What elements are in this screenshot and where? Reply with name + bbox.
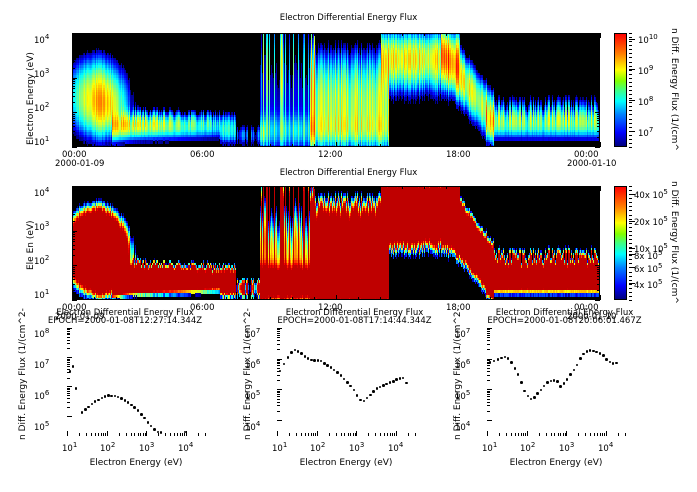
axis-minor-tick <box>487 394 490 395</box>
data-point <box>333 369 336 372</box>
axis-minor-tick <box>292 186 293 189</box>
data-point <box>140 413 143 416</box>
data-point <box>533 396 536 399</box>
axis-minor-tick <box>277 360 280 361</box>
data-point <box>589 349 592 352</box>
axis-minor-tick <box>170 433 171 436</box>
axis-minor-tick <box>597 241 600 242</box>
axis-minor-tick <box>204 186 205 189</box>
colorbar-minor-tick <box>629 49 632 50</box>
axis-minor-tick <box>67 337 70 338</box>
axis-minor-tick <box>487 329 490 330</box>
mid-ytick-1: 101 <box>34 291 49 301</box>
data-point <box>510 361 513 364</box>
axis-minor-tick <box>487 333 490 334</box>
data-point <box>147 421 150 424</box>
axis-tick <box>595 231 600 232</box>
axis-minor-tick <box>72 88 75 89</box>
axis-minor-tick <box>67 388 70 389</box>
data-point <box>87 406 90 409</box>
axis-minor-tick <box>384 433 385 436</box>
axis-minor-tick <box>314 144 315 147</box>
axis-minor-tick <box>72 200 75 201</box>
axis-minor-tick <box>226 144 227 147</box>
data-point <box>530 398 533 401</box>
data-point <box>359 399 362 402</box>
colorbar-minor-tick <box>629 135 632 136</box>
colorbar-minor-tick <box>629 251 632 252</box>
data-point <box>546 381 549 384</box>
axis-minor-tick <box>67 402 70 403</box>
data-point <box>569 373 572 376</box>
axis-minor-tick <box>597 92 600 93</box>
axis-tick <box>595 147 600 148</box>
spectrum-3-plot[interactable] <box>487 328 625 436</box>
spectrum-2-plot[interactable] <box>277 328 415 436</box>
axis-tick <box>487 431 488 436</box>
axis-minor-tick <box>487 396 490 397</box>
axis-minor-tick <box>72 45 75 46</box>
axis-minor-tick <box>487 368 490 369</box>
axis-minor-tick <box>597 123 600 124</box>
axis-minor-tick <box>72 255 75 256</box>
axis-minor-tick <box>506 433 507 436</box>
axis-minor-tick <box>67 340 70 341</box>
data-point <box>382 384 385 387</box>
axis-minor-tick <box>597 290 600 291</box>
axis-minor-tick <box>415 433 416 436</box>
colorbar-minor-tick <box>629 227 632 228</box>
axis-minor-tick <box>380 33 381 36</box>
axis-minor-tick <box>277 394 280 395</box>
axis-minor-tick <box>551 433 552 436</box>
axis-minor-tick <box>597 236 600 237</box>
sp1-xtick-1: 101 <box>62 444 77 454</box>
axis-minor-tick <box>67 407 70 408</box>
axis-minor-tick <box>468 33 469 36</box>
colorbar-minor-tick <box>629 143 632 144</box>
axis-minor-tick <box>594 433 595 436</box>
colorbar-minor-tick <box>629 78 632 79</box>
axis-minor-tick <box>126 433 127 436</box>
axis-minor-tick <box>308 433 309 436</box>
data-point <box>385 383 388 386</box>
axis-minor-tick <box>446 33 447 36</box>
axis-minor-tick <box>600 433 601 436</box>
axis-minor-tick <box>487 349 490 350</box>
axis-minor-tick <box>277 344 280 345</box>
sp1-ytick-7: 107 <box>34 361 49 371</box>
axis-minor-tick <box>198 433 199 436</box>
axis-minor-tick <box>248 144 249 147</box>
axis-minor-tick <box>182 297 183 300</box>
axis-minor-tick <box>67 334 70 335</box>
axis-tick <box>595 78 600 79</box>
axis-minor-tick <box>597 276 600 277</box>
axis-minor-tick <box>277 333 280 334</box>
axis-minor-tick <box>358 144 359 147</box>
axis-tick <box>186 431 187 436</box>
axis-minor-tick <box>560 433 561 436</box>
axis-minor-tick <box>67 348 70 349</box>
top-colorbar[interactable] <box>614 33 627 147</box>
sp3-ytick-7: 107 <box>455 330 470 340</box>
axis-minor-tick <box>487 402 490 403</box>
axis-minor-tick <box>468 144 469 147</box>
axis-minor-tick <box>301 433 302 436</box>
data-point <box>143 417 146 420</box>
axis-minor-tick <box>600 186 601 189</box>
axis-minor-tick <box>119 433 120 436</box>
axis-minor-tick <box>270 33 271 36</box>
axis-minor-tick <box>67 398 70 399</box>
sp3-xtick-3: 103 <box>559 444 574 454</box>
axis-minor-tick <box>521 433 522 436</box>
axis-minor-tick <box>511 433 512 436</box>
axis-minor-tick <box>134 433 135 436</box>
axis-minor-tick <box>344 433 345 436</box>
axis-tick <box>72 112 77 113</box>
axis-minor-tick <box>67 331 70 332</box>
data-point <box>579 357 582 360</box>
sp2-xtick-1: 101 <box>272 444 287 454</box>
axis-minor-tick <box>67 362 70 363</box>
spectrum-1-ylabel: n Diff. Energy Flux (1/(cm^2- <box>18 440 150 450</box>
colorbar-minor-tick <box>629 147 632 148</box>
axis-minor-tick <box>248 186 249 189</box>
axis-tick <box>72 300 77 301</box>
axis-minor-tick <box>597 239 600 240</box>
colorbar-minor-tick <box>629 235 632 236</box>
data-point <box>536 392 539 395</box>
axis-tick <box>277 420 282 421</box>
axis-minor-tick <box>590 433 591 436</box>
axis-tick <box>67 357 72 358</box>
axis-minor-tick <box>94 186 95 189</box>
axis-minor-tick <box>72 273 75 274</box>
axis-minor-tick <box>618 433 619 436</box>
data-point <box>130 404 133 407</box>
axis-minor-tick <box>131 433 132 436</box>
colorbar-minor-tick <box>629 267 632 268</box>
axis-minor-tick <box>292 297 293 300</box>
axis-minor-tick <box>67 329 70 330</box>
top-ytick-3: 103 <box>34 70 49 80</box>
axis-minor-tick <box>277 391 280 392</box>
axis-minor-tick <box>72 51 75 52</box>
data-point <box>353 389 356 392</box>
axis-minor-tick <box>597 207 600 208</box>
colorbar-minor-tick <box>629 255 632 256</box>
data-point <box>323 362 326 365</box>
axis-minor-tick <box>277 340 280 341</box>
spectrum-1-plot[interactable] <box>67 328 205 436</box>
axis-minor-tick <box>487 335 490 336</box>
sp3-xtick-1: 101 <box>482 444 497 454</box>
axis-minor-tick <box>138 433 139 436</box>
axis-tick <box>72 43 77 44</box>
colorbar-minor-tick <box>629 37 632 38</box>
axis-minor-tick <box>597 116 600 117</box>
colorbar-minor-tick <box>629 110 632 111</box>
axis-minor-tick <box>158 433 159 436</box>
axis-minor-tick <box>165 433 166 436</box>
axis-minor-tick <box>597 200 600 201</box>
sp3-ytick-4: 104 <box>455 423 470 433</box>
sp2-ytick-5: 105 <box>245 392 260 402</box>
axis-minor-tick <box>487 371 490 372</box>
axis-minor-tick <box>67 366 70 367</box>
colorbar-minor-tick <box>629 94 632 95</box>
axis-minor-tick <box>597 137 600 138</box>
spectrum-2-epoch: EPOCH=2000-01-08T17:14:44.344Z <box>242 316 467 326</box>
axis-minor-tick <box>226 297 227 300</box>
axis-minor-tick <box>597 57 600 58</box>
colorbar-minor-tick <box>629 33 632 34</box>
axis-minor-tick <box>277 329 280 330</box>
colorbar-minor-tick <box>629 74 632 75</box>
axis-minor-tick <box>72 290 75 291</box>
data-point <box>101 397 104 400</box>
data-point <box>310 359 313 362</box>
data-point <box>559 385 562 388</box>
spectrum-1-xlabel: Electron Energy (eV) <box>67 458 205 468</box>
axis-tick <box>595 43 600 44</box>
sp1-ytick-6: 106 <box>34 392 49 402</box>
axis-minor-tick <box>72 81 75 82</box>
axis-minor-tick <box>277 335 280 336</box>
axis-minor-tick <box>67 391 70 392</box>
axis-minor-tick <box>424 186 425 189</box>
axis-minor-tick <box>597 204 600 205</box>
axis-minor-tick <box>72 126 75 127</box>
middle-panel-ylabel: Ele En (eV) <box>26 270 76 280</box>
axis-minor-tick <box>277 365 280 366</box>
axis-minor-tick <box>390 433 391 436</box>
colorbar-minor-tick <box>629 280 632 281</box>
axis-tick <box>277 359 282 360</box>
colorbar-minor-tick <box>629 288 632 289</box>
data-point <box>104 395 107 398</box>
data-point <box>346 381 349 384</box>
middle-colorbar[interactable] <box>614 186 627 300</box>
axis-minor-tick <box>597 102 600 103</box>
axis-minor-tick <box>270 297 271 300</box>
axis-minor-tick <box>597 232 600 233</box>
axis-minor-tick <box>597 279 600 280</box>
axis-minor-tick <box>336 186 337 189</box>
top-colorbar-label: n Diff. Energy Flux (1/(cm^ <box>679 28 697 38</box>
data-point <box>343 378 346 381</box>
data-point <box>523 390 526 393</box>
data-point <box>609 361 612 364</box>
colorbar-minor-tick <box>629 41 632 42</box>
axis-minor-tick <box>72 207 75 208</box>
axis-minor-tick <box>512 144 513 147</box>
axis-minor-tick <box>597 284 600 285</box>
axis-tick <box>67 386 72 387</box>
sp1-ytick-5: 105 <box>34 423 49 433</box>
data-point <box>72 365 75 368</box>
axis-minor-tick <box>72 202 75 203</box>
axis-minor-tick <box>490 144 491 147</box>
axis-minor-tick <box>94 297 95 300</box>
axis-minor-tick <box>368 433 369 436</box>
axis-minor-tick <box>277 399 280 400</box>
axis-minor-tick <box>67 393 70 394</box>
axis-minor-tick <box>98 433 99 436</box>
axis-minor-tick <box>138 33 139 36</box>
axis-minor-tick <box>314 297 315 300</box>
axis-minor-tick <box>116 186 117 189</box>
mid-colorbar-tick-6: 6x 105 <box>634 265 662 275</box>
axis-minor-tick <box>292 144 293 147</box>
axis-tick <box>487 328 492 329</box>
sp2-ytick-6: 106 <box>245 361 260 371</box>
axis-minor-tick <box>487 411 490 412</box>
data-point <box>110 395 113 398</box>
axis-minor-tick <box>72 276 75 277</box>
axis-minor-tick <box>67 372 70 373</box>
axis-minor-tick <box>487 340 490 341</box>
data-point <box>307 357 310 360</box>
axis-minor-tick <box>556 144 557 147</box>
data-point <box>605 358 608 361</box>
axis-minor-tick <box>563 433 564 436</box>
data-point <box>586 350 589 353</box>
axis-minor-tick <box>86 433 87 436</box>
axis-tick <box>72 78 77 79</box>
axis-minor-tick <box>597 51 600 52</box>
axis-minor-tick <box>138 186 139 189</box>
axis-minor-tick <box>490 186 491 189</box>
axis-tick <box>72 231 77 232</box>
axis-minor-tick <box>277 405 280 406</box>
axis-minor-tick <box>248 297 249 300</box>
data-point <box>107 394 110 397</box>
axis-minor-tick <box>597 221 600 222</box>
axis-minor-tick <box>534 297 535 300</box>
axis-minor-tick <box>292 33 293 36</box>
axis-minor-tick <box>597 54 600 55</box>
data-point <box>124 399 127 402</box>
axis-minor-tick <box>277 380 280 381</box>
colorbar-minor-tick <box>629 284 632 285</box>
axis-minor-tick <box>72 284 75 285</box>
axis-minor-tick <box>72 116 75 117</box>
axis-minor-tick <box>487 363 490 364</box>
middle-colorbar-label: n Diff. Energy Flux (1/(cm^ <box>679 181 697 191</box>
mid-colorbar-tick-8: 8x 105 <box>634 252 662 262</box>
axis-minor-tick <box>336 297 337 300</box>
top-colorbar-tick-8: 108 <box>638 98 653 108</box>
axis-minor-tick <box>380 186 381 189</box>
data-point <box>520 381 523 384</box>
axis-minor-tick <box>314 33 315 36</box>
axis-minor-tick <box>402 297 403 300</box>
axis-minor-tick <box>72 54 75 55</box>
axis-minor-tick <box>277 396 280 397</box>
colorbar-minor-tick <box>629 86 632 87</box>
axis-minor-tick <box>277 331 280 332</box>
data-point <box>114 395 117 398</box>
data-point <box>493 360 496 363</box>
axis-minor-tick <box>277 349 280 350</box>
axis-minor-tick <box>72 232 75 233</box>
data-point <box>97 399 100 402</box>
axis-minor-tick <box>600 33 601 36</box>
axis-minor-tick <box>205 433 206 436</box>
data-point <box>599 352 602 355</box>
colorbar-minor-tick <box>629 263 632 264</box>
axis-tick <box>595 300 600 301</box>
axis-minor-tick <box>597 210 600 211</box>
axis-minor-tick <box>534 186 535 189</box>
axis-minor-tick <box>336 144 337 147</box>
colorbar-tick <box>629 39 635 40</box>
axis-minor-tick <box>277 375 280 376</box>
axis-minor-tick <box>556 186 557 189</box>
data-point <box>573 369 576 372</box>
axis-minor-tick <box>248 33 249 36</box>
top-colorbar-tick-7: 107 <box>638 129 653 139</box>
axis-minor-tick <box>518 433 519 436</box>
axis-minor-tick <box>277 337 280 338</box>
colorbar-minor-tick <box>629 82 632 83</box>
axis-minor-tick <box>512 186 513 189</box>
axis-minor-tick <box>72 123 75 124</box>
axis-minor-tick <box>177 433 178 436</box>
axis-minor-tick <box>600 297 601 300</box>
colorbar-minor-tick <box>629 247 632 248</box>
colorbar-minor-tick <box>629 114 632 115</box>
axis-minor-tick <box>597 47 600 48</box>
data-point <box>405 382 408 385</box>
axis-minor-tick <box>487 337 490 338</box>
sp1-ytick-8: 108 <box>34 330 49 340</box>
axis-minor-tick <box>554 433 555 436</box>
axis-minor-tick <box>597 79 600 80</box>
data-point <box>300 352 303 355</box>
axis-minor-tick <box>160 144 161 147</box>
axis-minor-tick <box>487 331 490 332</box>
axis-minor-tick <box>487 399 490 400</box>
axis-minor-tick <box>446 297 447 300</box>
axis-minor-tick <box>597 120 600 121</box>
data-point <box>369 394 372 397</box>
axis-minor-tick <box>72 102 75 103</box>
axis-minor-tick <box>487 344 490 345</box>
axis-minor-tick <box>72 61 75 62</box>
colorbar-minor-tick <box>629 90 632 91</box>
axis-minor-tick <box>597 198 600 199</box>
axis-minor-tick <box>585 433 586 436</box>
axis-minor-tick <box>556 33 557 36</box>
top-ytick-1: 101 <box>34 138 49 148</box>
axis-tick <box>595 265 600 266</box>
axis-minor-tick <box>597 88 600 89</box>
axis-minor-tick <box>597 234 600 235</box>
axis-minor-tick <box>67 378 70 379</box>
axis-minor-tick <box>499 433 500 436</box>
colorbar-minor-tick <box>629 106 632 107</box>
colorbar-minor-tick <box>629 296 632 297</box>
colorbar-minor-tick <box>629 139 632 140</box>
axis-minor-tick <box>402 186 403 189</box>
colorbar-minor-tick <box>629 231 632 232</box>
data-point <box>402 377 405 380</box>
axis-tick <box>72 147 77 148</box>
